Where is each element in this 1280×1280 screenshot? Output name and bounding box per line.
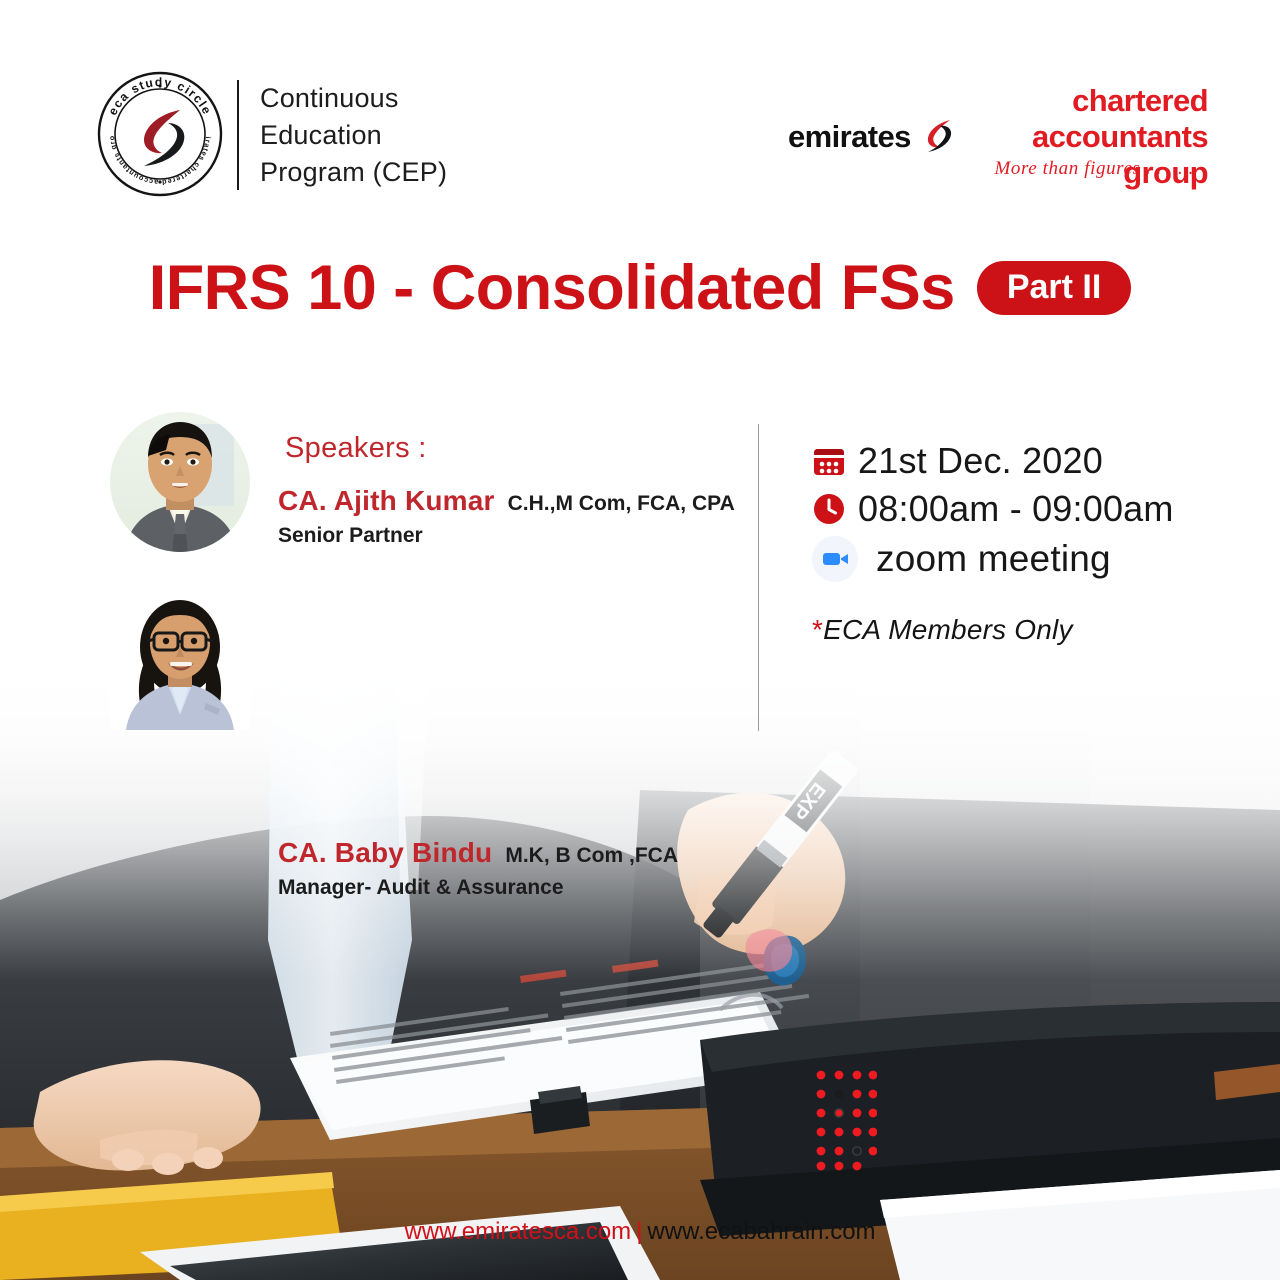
- poster-header: eca study circle emirates chartered acco…: [0, 0, 1280, 230]
- event-time-row: 08:00am - 09:00am: [812, 488, 1242, 530]
- program-line-1: Continuous: [260, 80, 580, 117]
- speaker-name: CA. Ajith Kumar: [278, 485, 495, 517]
- speaker-qualifications: C.H.,M Com, FCA, CPA: [508, 492, 735, 516]
- zoom-video-icon: [812, 536, 858, 582]
- speaker-2-portrait: [110, 585, 250, 730]
- emirates-chartered-accountants-logo: emirates chartered accountants group Mor…: [788, 118, 1208, 180]
- avatar: [110, 585, 250, 730]
- url-primary[interactable]: www.emiratesca.com: [404, 1218, 631, 1245]
- poster-title-row: IFRS 10 - Consolidated FSs Part II: [0, 252, 1280, 324]
- speaker-qualifications: M.K, B Com ,FCA: [505, 844, 678, 868]
- background-photo: EXP: [0, 640, 1280, 1280]
- program-line-3: Program (CEP): [260, 154, 580, 191]
- page-title: IFRS 10 - Consolidated FSs: [149, 252, 955, 324]
- eca-study-circle-seal-icon: eca study circle emirates chartered acco…: [96, 70, 224, 198]
- url-separator: |: [636, 1218, 642, 1245]
- event-date-row: 21st Dec. 2020: [812, 440, 1242, 482]
- speaker-name: CA. Baby Bindu: [278, 837, 492, 869]
- event-date: 21st Dec. 2020: [858, 440, 1103, 482]
- members-only-note: *ECA Members Only: [812, 614, 1242, 646]
- program-line-2: Education: [260, 117, 580, 154]
- event-platform: zoom meeting: [876, 538, 1111, 580]
- desk-scene-illustration: EXP: [0, 640, 1280, 1280]
- url-secondary[interactable]: www.ecabahrain.com: [647, 1218, 875, 1245]
- note-asterisk: *: [812, 614, 823, 645]
- footer-urls: www.emiratesca.com|www.ecabahrain.com: [0, 1218, 1280, 1246]
- logo-word-emirates: emirates: [788, 119, 911, 155]
- logo-swoosh-icon: [919, 115, 959, 160]
- speaker-role: Senior Partner: [278, 524, 735, 548]
- speaker-role: Manager- Audit & Assurance: [278, 876, 678, 900]
- logo-tagline: More than figures . . . . .: [788, 158, 1208, 180]
- speaker-2-text: CA. Baby Bindu M.K, B Com ,FCA Manager- …: [278, 837, 678, 900]
- poster-canvas: EXP eca study circle: [0, 0, 1280, 1280]
- event-time: 08:00am - 09:00am: [858, 488, 1174, 530]
- avatar: [110, 410, 250, 555]
- clock-icon: [812, 492, 858, 526]
- calendar-icon: [812, 444, 858, 478]
- speakers-label: Speakers :: [285, 432, 427, 465]
- speaker-1-portrait: [110, 410, 250, 555]
- red-dot-grid-decoration: [815, 1069, 877, 1171]
- note-text: ECA Members Only: [823, 614, 1073, 645]
- program-title: Continuous Education Program (CEP): [260, 80, 580, 191]
- speaker-1-text: CA. Ajith Kumar C.H.,M Com, FCA, CPA Sen…: [278, 485, 735, 548]
- part-badge: Part II: [977, 261, 1131, 315]
- event-details: 21st Dec. 2020 08:00am - 09:00am zoom me…: [812, 440, 1242, 646]
- event-platform-row: zoom meeting: [812, 536, 1242, 582]
- header-divider: [237, 80, 239, 190]
- section-divider: [758, 424, 759, 731]
